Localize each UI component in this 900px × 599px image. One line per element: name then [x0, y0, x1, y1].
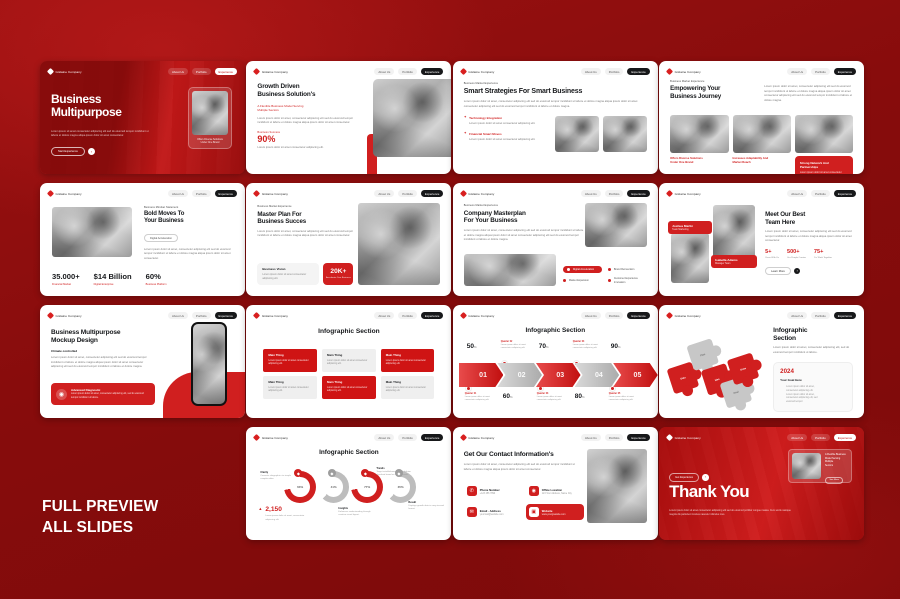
hero-cta-label[interactable]: Start Experience	[51, 147, 85, 156]
brand: Gislaine Company	[254, 69, 288, 74]
mockup-feature-title: Advanced Diagnostic	[71, 388, 150, 392]
slide-thank-you[interactable]: Gislaine Company About Us Portfolio Expe…	[659, 427, 864, 540]
slide-team[interactable]: Gislaine Company About Us Portfolio Expe…	[659, 183, 864, 296]
nav-link-about[interactable]: About Us	[374, 190, 394, 197]
nav-link-portfolio[interactable]: Portfolio	[398, 434, 417, 441]
slide-nav: Gislaine Company About Us Portfolio Expe…	[461, 188, 650, 199]
logo-icon	[666, 312, 673, 319]
masterplan-chip-digital-acceleration[interactable]: Digital Acceleration	[563, 266, 602, 274]
puzzle-goal-card: 2024 Your Goal Here Lorem ipsum dolor si…	[773, 362, 853, 412]
nav-link-about[interactable]: About Us	[168, 190, 188, 197]
bold-stats: 35.000+ Financial Market $14 Billion Dig…	[52, 273, 233, 286]
nav-link-portfolio[interactable]: Portfolio	[811, 68, 830, 75]
brand-name: Gislaine Company	[56, 70, 82, 74]
brand-name: Gislaine Company	[468, 436, 494, 440]
team-stat: 5+ Years With Us	[765, 250, 779, 260]
gauge-trends: ◆ 77%	[351, 471, 383, 503]
hero-card-caption: Offers Diverse Solutions Under One Brand	[192, 138, 228, 145]
mockup-subtitle: Climate controlled	[51, 349, 155, 353]
growth-title: Growth Driven Business Solution's	[257, 83, 365, 99]
slide-nav: Gislaine Company About Us Portfolio Expe…	[461, 432, 650, 443]
slide-growth-driven[interactable]: Gislaine Company About Us Portfolio Expe…	[246, 61, 451, 174]
logo-icon	[253, 312, 260, 319]
empowering-photo-2	[733, 115, 791, 153]
brand-name: Gislaine Company	[262, 436, 288, 440]
gauge-insights: ◆ 41%	[318, 471, 350, 503]
masterplan-chip-brand-reinvention[interactable]: Brand Reinvention	[608, 266, 647, 274]
slide-empowering[interactable]: Gislaine Company About Us Portfolio Expe…	[659, 61, 864, 174]
nav-link-about[interactable]: About Us	[581, 68, 601, 75]
nav-cta-experience[interactable]: Experience	[627, 312, 649, 319]
team-stat: 75+ Yrs Work Together	[814, 250, 832, 260]
nav-link-about[interactable]: About Us	[168, 312, 188, 319]
slide-nav: Gislaine Company About Us Portfolio Expe…	[254, 66, 443, 77]
logo-icon	[666, 190, 673, 197]
logo-icon	[253, 190, 260, 197]
master-photo	[358, 203, 440, 285]
brand-name: Gislaine Company	[675, 192, 701, 196]
check-icon: ✦	[464, 116, 467, 126]
gauge-clarity: ◆ 63%	[284, 471, 316, 503]
nav-link-portfolio[interactable]: Portfolio	[398, 312, 417, 319]
gauges-title: Infographic Section	[246, 449, 451, 456]
contact-content: Get Our Contact Information's Lorem ipsu…	[464, 451, 582, 472]
nav-links: About Us Portfolio Experience	[787, 68, 856, 75]
empowering-tiles: Offers Diverse Solutions Under One Brand…	[670, 115, 853, 174]
logo-icon	[47, 312, 54, 319]
arrow-percent-04: 80%	[575, 393, 585, 400]
nav-link-about[interactable]: About Us	[581, 312, 601, 319]
bold-body: Lorem ipsum dolor sit amet, consectetur …	[144, 248, 235, 262]
nav-link-about[interactable]: About Us	[581, 190, 601, 197]
brand: Gislaine Company	[667, 69, 701, 74]
thankyou-cta-label[interactable]: Get Experience	[669, 473, 699, 482]
puzzle-graphic: Data Plan Idea Goal Grow	[659, 315, 783, 418]
logo-icon	[460, 68, 467, 75]
empowering-photo-1	[670, 115, 728, 153]
check-icon: ✦	[464, 132, 467, 142]
nav-link-about[interactable]: About Us	[581, 434, 601, 441]
masterplan-body: Lorem ipsum dolor sit amet, consectetur …	[464, 229, 584, 243]
puzzle-goal-title: Your Goal Here	[780, 378, 846, 382]
nav-link-about[interactable]: About Us	[374, 434, 394, 441]
nav-links: About Us Portfolio Experience	[581, 68, 650, 75]
empowering-redcard-body: Lorem ipsum dolor sit amet consectetur a…	[800, 171, 848, 174]
thankyou-card: A Flexible Business Model Serving Multip…	[788, 449, 852, 483]
brand: Gislaine Company	[254, 313, 288, 318]
contact-photo	[587, 449, 647, 523]
brand: Gislaine Company	[254, 435, 288, 440]
master-content: Business Market Experience Master Plan F…	[257, 205, 353, 239]
empowering-title-block: Business Market Experience Empowering Yo…	[670, 80, 756, 103]
contact-item-location[interactable]: ◉ Office Location 123 Your Address, Name…	[526, 483, 584, 499]
slide-mockup[interactable]: Gislaine Company About Us Portfolio Expe…	[40, 305, 245, 418]
masterplan-chips: Digital Acceleration Brand Reinvention M…	[563, 266, 647, 284]
slide-nav: Gislaine Company About Us Portfolio Expe…	[461, 66, 650, 77]
empowering-title: Empowering Your Business Journey	[670, 85, 756, 100]
nav-links: About Us Portfolio Experience	[787, 434, 856, 441]
puzzle-goal-list: Lorem ipsum dolor sit amet, consectetur …	[786, 386, 846, 404]
arrow-step-05: 05	[613, 363, 658, 387]
nav-link-portfolio[interactable]: Portfolio	[398, 68, 417, 75]
bold-stat: 35.000+ Financial Market	[52, 273, 80, 286]
masterplan-photo-top	[585, 203, 647, 247]
nav-link-portfolio[interactable]: Portfolio	[398, 190, 417, 197]
masterplan-title: Company Masterplan For Your Business	[464, 210, 584, 226]
arrow-step-01: 01	[459, 363, 504, 387]
gauge-label-insights: Insights Enhances understanding through …	[338, 507, 374, 518]
phone-mockup	[191, 322, 227, 406]
nav-link-portfolio[interactable]: Portfolio	[605, 312, 624, 319]
empowering-tile: Increases Adaptability And Market Reach	[733, 115, 791, 174]
arrows-chart: 01 02 03 04 05	[459, 363, 652, 387]
team-photo-1	[671, 233, 709, 283]
growth-body: Lorem ipsum dolor sit amet, consectetur …	[257, 117, 355, 126]
hero-title: Business Multipurpose	[51, 93, 122, 119]
team-cta[interactable]: Learn More ›	[765, 267, 854, 276]
team-photo-2	[713, 205, 755, 261]
infographic-card[interactable]: Main Thing Lorem ipsum dolor sit amet co…	[322, 349, 376, 372]
team-content: Meet Our Best Team Here Lorem ipsum dolo…	[765, 211, 854, 275]
smart-feature-body: Lorem ipsum dolor sit amet consectetur a…	[469, 122, 535, 127]
nav-cta-experience[interactable]: Experience	[627, 434, 649, 441]
masterplan-eyebrow: Business Market Experience	[464, 204, 584, 207]
masterplan-content: Business Market Experience Company Maste…	[464, 204, 584, 243]
infographic-card[interactable]: Main Thing Lorem ipsum dolor sit amet co…	[381, 349, 435, 372]
footer-line-2: ALL SLIDES	[42, 518, 158, 539]
nav-links: About Us Portfolio Experience	[787, 312, 856, 319]
brand: Gislaine Company	[461, 69, 495, 74]
master-body: Lorem ipsum dolor sit amet, consectetur …	[257, 230, 353, 239]
brand: Gislaine Company	[461, 313, 495, 318]
brand: Gislaine Company	[254, 191, 288, 196]
arrow-step-04: 04	[575, 363, 620, 387]
team-namecard-1: Joshua Martin Team Marketing	[668, 221, 712, 234]
contact-body: Lorem ipsum dolor sit amet, consectetur …	[464, 463, 582, 472]
logo-icon	[47, 190, 54, 197]
hero-card-photo	[192, 91, 228, 135]
bullet-icon	[608, 268, 612, 272]
nav-links: About Us Portfolio Experience	[581, 434, 650, 441]
nav-cta-experience[interactable]: Experience	[215, 190, 237, 197]
bold-content: Business Mindset Statement Bold Moves To…	[144, 206, 235, 261]
master-badge: 20K+ Accelerate Your Business	[323, 263, 353, 285]
nav-link-about[interactable]: About Us	[787, 312, 807, 319]
brand: Gislaine Company	[48, 313, 82, 318]
smart-body: Lorem ipsum dolor sit amet, consectetur …	[464, 100, 647, 109]
brain-icon: ◉	[56, 389, 67, 400]
thankyou-description: Lorem ipsum dolor sit amet consectetur a…	[669, 509, 799, 517]
arrow-percent-01: 50%	[467, 343, 477, 350]
slide-nav: Gislaine Company About Us Portfolio Expe…	[667, 310, 856, 321]
nav-cta-experience[interactable]: Experience	[215, 312, 237, 319]
nav-cta-experience[interactable]: Experience	[421, 434, 443, 441]
smart-eyebrow: Business Market Experience	[464, 82, 647, 85]
nav-link-about[interactable]: About Us	[374, 312, 394, 319]
masterplan-photo-bottom	[464, 254, 556, 286]
infographic-card[interactable]: Main Thing Lorem ipsum dolor sit amet co…	[263, 376, 317, 399]
arrow-caption-03: Quarter 03 Lorem ipsum dolor sit amet co…	[537, 393, 573, 402]
nav-link-portfolio[interactable]: Portfolio	[605, 68, 624, 75]
empowering-caption-2: Increases Adaptability And Market Reach	[733, 156, 791, 164]
masterplan-chip-customer-experience[interactable]: Customer Experience Innovation	[608, 277, 647, 284]
growth-stat-value: 90%	[257, 135, 365, 144]
smart-feature: ✦ Technology Integration Lorem ipsum dol…	[464, 116, 549, 127]
growth-photo	[373, 79, 451, 157]
nav-cta-experience[interactable]: Experience	[627, 68, 649, 75]
smart-photo-1	[555, 116, 599, 152]
nav-link-about[interactable]: About Us	[787, 190, 807, 197]
nav-links: About Us Portfolio Experience	[787, 190, 856, 197]
bold-title: Bold Moves To Your Business	[144, 211, 235, 226]
nav-cta-experience[interactable]: Experience	[421, 190, 443, 197]
smart-feature-title: Technology Integration	[469, 116, 535, 120]
nav-links: About Us Portfolio Experience	[374, 68, 443, 75]
nav-cta-experience[interactable]: Experience	[421, 68, 443, 75]
smart-photo-2	[603, 116, 647, 152]
puzzle-year: 2024	[780, 369, 846, 375]
slide-company-masterplan[interactable]: Gislaine Company About Us Portfolio Expe…	[453, 183, 658, 296]
nav-cta-experience[interactable]: Experience	[627, 190, 649, 197]
brand-name: Gislaine Company	[468, 314, 494, 318]
nav-cta-experience[interactable]: Experience	[834, 190, 856, 197]
bold-photo	[52, 207, 132, 257]
master-title: Master Plan For Business Succes	[257, 211, 353, 226]
brand-name: Gislaine Company	[262, 70, 288, 74]
arrow-percent-03: 70%	[539, 343, 549, 350]
brand: Gislaine Company	[461, 191, 495, 196]
empowering-top: Business Market Experience Empowering Yo…	[670, 80, 853, 103]
nav-cta-experience[interactable]: Experience	[215, 68, 237, 75]
master-eyebrow: Business Market Experience	[257, 205, 353, 208]
nav-link-about[interactable]: About Us	[168, 68, 188, 75]
bullet-icon	[563, 279, 567, 283]
smart-feature: ✦ Financial Smart Moves Lorem ipsum dolo…	[464, 132, 549, 143]
arrow-caption-01: Quarter 01 Lorem ipsum dolor sit amet co…	[465, 393, 501, 402]
slide-nav: Gislaine Company About Us Portfolio Expe…	[48, 310, 237, 321]
nav-link-about[interactable]: About Us	[787, 68, 807, 75]
nav-link-portfolio[interactable]: Portfolio	[605, 190, 624, 197]
footer-line-1: FULL PREVIEW	[42, 497, 158, 518]
infographic-cards-grid: Main Thing Lorem ipsum dolor sit amet co…	[263, 349, 434, 399]
nav-links: About Us Portfolio Experience	[168, 68, 237, 75]
slide-nav: Gislaine Company About Us Portfolio Expe…	[254, 188, 443, 199]
team-body: Lorem ipsum dolor sit amet, consectetur …	[765, 230, 854, 244]
phone-screen	[193, 324, 225, 404]
pin-icon: ◉	[529, 486, 539, 496]
nav-link-portfolio[interactable]: Portfolio	[192, 312, 211, 319]
infographic-card[interactable]: Main Thing Lorem ipsum dolor sit amet co…	[263, 349, 317, 372]
smart-columns: ✦ Technology Integration Lorem ipsum dol…	[464, 116, 647, 152]
bullet-icon	[567, 268, 571, 272]
slide-nav: Gislaine Company About Us Portfolio Expe…	[48, 66, 237, 77]
smart-images	[555, 116, 647, 152]
mockup-title: Business Multipurpose Mockup Design	[51, 329, 155, 345]
thankyou-card-photo	[792, 453, 821, 479]
brand-name: Gislaine Company	[675, 314, 701, 318]
thankyou-title: Thank You	[669, 483, 749, 500]
gauge-pin-icon: ◆	[395, 469, 403, 477]
team-stats: 5+ Years With Us 500+ Our People Creator…	[765, 250, 854, 260]
smart-feature-title: Financial Smart Moves	[469, 132, 535, 136]
puzzle-content: Infographic Section Lorem ipsum dolor si…	[773, 327, 853, 412]
slide-nav: Gislaine Company About Us Portfolio Expe…	[48, 188, 237, 199]
arrow-percent-02: 60%	[503, 393, 513, 400]
puzzle-title: Infographic Section	[773, 327, 853, 343]
thankyou-card-button[interactable]: See More	[825, 477, 843, 484]
brand: Gislaine Company	[667, 313, 701, 318]
smart-title: Smart Strategies For Smart Business	[464, 88, 647, 97]
bold-stat: $14 Billion Digital Enterprise	[94, 273, 132, 286]
slide-nav: Gislaine Company About Us Portfolio Expe…	[667, 188, 856, 199]
nav-link-portfolio[interactable]: Portfolio	[192, 68, 211, 75]
brand-name: Gislaine Company	[468, 192, 494, 196]
logo-icon	[460, 312, 467, 319]
mockup-feature-body: Lorem ipsum dolor sit amet, consectetur …	[71, 393, 150, 400]
brand: Gislaine Company	[667, 191, 701, 196]
slide-infographic-cards[interactable]: Gislaine Company About Us Portfolio Expe…	[246, 305, 451, 418]
slide-master-plan[interactable]: Gislaine Company About Us Portfolio Expe…	[246, 183, 451, 296]
team-stat: 500+ Our People Creator	[787, 250, 806, 260]
brand-name: Gislaine Company	[675, 436, 701, 440]
empowering-photo-3	[795, 115, 853, 153]
bold-eyebrow: Business Mindset Statement	[144, 206, 235, 209]
growth-accent-text: A Flexible Business Model Serving Multip…	[257, 104, 365, 113]
puzzle-body: Lorem ipsum dolor sit amet, consectetur …	[773, 346, 853, 355]
bold-tag: Digital Acceleration	[144, 234, 178, 243]
empowering-body: Lorem ipsum dolor sit amet, consectetur …	[764, 80, 853, 103]
phone-screen-photo	[193, 324, 225, 404]
logo-icon	[666, 434, 673, 441]
hero-card: Offers Diverse Solutions Under One Brand	[188, 87, 232, 149]
logo-icon	[460, 434, 467, 441]
master-vision-row: Business Vision Lorem ipsum dolor sit am…	[257, 263, 353, 285]
slide-infographic-gauges[interactable]: Gislaine Company About Us Portfolio Expe…	[246, 427, 451, 540]
arrow-step-03: 03	[536, 363, 581, 387]
logo-icon	[460, 190, 467, 197]
slides-grid: Gislaine Company About Us Portfolio Expe…	[40, 61, 862, 540]
arrow-right-icon[interactable]: ›	[794, 268, 801, 275]
contact-title: Get Our Contact Information's	[464, 451, 582, 459]
hero-cta[interactable]: Start Experience ›	[51, 147, 95, 156]
arrow-caption-04: Quarter 04 Lorem ipsum dolor sit amet co…	[573, 341, 609, 350]
slide-smart-strategies[interactable]: Gislaine Company About Us Portfolio Expe…	[453, 61, 658, 174]
nav-link-about[interactable]: About Us	[374, 68, 394, 75]
nav-cta-experience[interactable]: Experience	[834, 68, 856, 75]
hero-subtitle: Lorem ipsum sit amet consectetur adipisc…	[51, 130, 156, 138]
nav-link-portfolio[interactable]: Portfolio	[811, 312, 830, 319]
team-title: Meet Our Best Team Here	[765, 211, 854, 226]
brand: Gislaine Company	[461, 435, 495, 440]
logo-icon	[666, 68, 673, 75]
team-cta-label[interactable]: Learn More	[765, 267, 791, 276]
slide-nav: Gislaine Company About Us Portfolio Expe…	[667, 66, 856, 77]
contact-items: ✆ Phone Number +123 456 7890 ◉ Office Lo…	[464, 483, 584, 520]
arrow-caption-02: Quarter 02 Lorem ipsum dolor sit amet co…	[501, 341, 537, 350]
brand-name: Gislaine Company	[675, 70, 701, 74]
nav-links: About Us Portfolio Experience	[581, 190, 650, 197]
footer-caption: FULL PREVIEW ALL SLIDES	[42, 497, 158, 539]
thankyou-cta[interactable]: Get Experience ›	[669, 473, 708, 482]
slide-nav: Gislaine Company About Us Portfolio Expe…	[667, 432, 856, 443]
bold-stat: 60% Business Platform	[146, 273, 167, 286]
slide-nav: Gislaine Company About Us Portfolio Expe…	[254, 310, 443, 321]
arrows-title: Infographic Section	[453, 327, 658, 334]
smart-features: ✦ Technology Integration Lorem ipsum dol…	[464, 116, 549, 152]
nav-links: About Us Portfolio Experience	[168, 190, 237, 197]
nav-link-about[interactable]: About Us	[787, 434, 807, 441]
brand: Gislaine Company	[48, 69, 82, 74]
nav-link-portfolio[interactable]: Portfolio	[811, 434, 830, 441]
gauges-big-stat: ▲ 2,150 Lorem ipsum dolor sit amet, cons…	[258, 507, 307, 522]
brand-name: Gislaine Company	[468, 70, 494, 74]
arrow-right-icon[interactable]: ›	[702, 474, 709, 481]
team-namecard-2: Isabella Adams Manager Team	[711, 255, 757, 268]
mockup-content: Business Multipurpose Mockup Design Clim…	[51, 329, 155, 370]
nav-links: About Us Portfolio Experience	[374, 434, 443, 441]
nav-cta-experience[interactable]: Experience	[834, 312, 856, 319]
arrow-percent-05: 90%	[611, 343, 621, 350]
contact-item-phone[interactable]: ✆ Phone Number +123 456 7890	[464, 483, 522, 499]
slide-nav: Gislaine Company About Us Portfolio Expe…	[254, 432, 443, 443]
thankyou-card-text: A Flexible Business Model Serving Multip…	[825, 453, 848, 467]
arrow-caption-05: Quarter 05 Lorem ipsum dolor sit amet co…	[609, 393, 645, 402]
gauge-result: ◆ 35%	[385, 471, 417, 503]
phone-icon: ✆	[467, 486, 477, 496]
nav-cta-experience[interactable]: Experience	[421, 312, 443, 319]
arrow-right-icon[interactable]: ›	[88, 148, 95, 155]
nav-links: About Us Portfolio Experience	[168, 312, 237, 319]
gauge-pin-icon: ◆	[328, 469, 336, 477]
nav-links: About Us Portfolio Experience	[374, 190, 443, 197]
nav-links: About Us Portfolio Experience	[581, 312, 650, 319]
masterplan-chip-market-expansion[interactable]: Market Expansion	[563, 277, 602, 284]
infographic-card[interactable]: Main Thing Lorem ipsum dolor sit amet co…	[381, 376, 435, 399]
infographic-cards-title: Infographic Section	[246, 328, 451, 335]
nav-link-portfolio[interactable]: Portfolio	[811, 190, 830, 197]
empowering-redcard: Strong Network And Partnerships Lorem ip…	[795, 156, 853, 175]
gauges-row: ◆ 63% ◆ 41% ◆ 77% ◆ 35%	[284, 471, 416, 511]
brand-name: Gislaine Company	[262, 192, 288, 196]
contact-item-website[interactable]: ▣ Website www.yourgreatsite.com	[526, 504, 584, 520]
slide-infographic-arrows[interactable]: Gislaine Company About Us Portfolio Expe…	[453, 305, 658, 418]
slide-hero[interactable]: Gislaine Company About Us Portfolio Expe…	[40, 61, 245, 174]
arrow-step-02: 02	[497, 363, 542, 387]
infographic-card[interactable]: Main Thing Lorem ipsum dolor sit amet co…	[322, 376, 376, 399]
brand: Gislaine Company	[48, 191, 82, 196]
logo-icon	[253, 68, 260, 75]
logo-icon	[47, 68, 54, 75]
slide-infographic-puzzle[interactable]: Gislaine Company About Us Portfolio Expe…	[659, 305, 864, 418]
empowering-tile: Strong Network And Partnerships Lorem ip…	[795, 115, 853, 174]
empowering-caption-1: Offers Diverse Solutions Under One Brand	[670, 156, 728, 164]
smart-content: Business Market Experience Smart Strateg…	[464, 82, 647, 152]
nav-link-portfolio[interactable]: Portfolio	[605, 434, 624, 441]
contact-item-email[interactable]: ✉ Email - Address yourmail@website.com	[464, 504, 522, 520]
empowering-eyebrow: Business Market Experience	[670, 80, 756, 83]
bullet-icon	[608, 279, 612, 283]
slide-nav: Gislaine Company About Us Portfolio Expe…	[461, 310, 650, 321]
nav-cta-experience[interactable]: Experience	[834, 434, 856, 441]
brand-name: Gislaine Company	[56, 314, 82, 318]
brand-name: Gislaine Company	[262, 314, 288, 318]
slide-bold-moves[interactable]: Gislaine Company About Us Portfolio Expe…	[40, 183, 245, 296]
slide-contact[interactable]: Gislaine Company About Us Portfolio Expe…	[453, 427, 658, 540]
smart-feature-body: Lorem ipsum dolor sit amet consectetur a…	[469, 138, 535, 143]
mockup-feature-card: ◉ Advanced Diagnostic Lorem ipsum dolor …	[51, 383, 155, 405]
nav-links: About Us Portfolio Experience	[374, 312, 443, 319]
nav-link-portfolio[interactable]: Portfolio	[192, 190, 211, 197]
